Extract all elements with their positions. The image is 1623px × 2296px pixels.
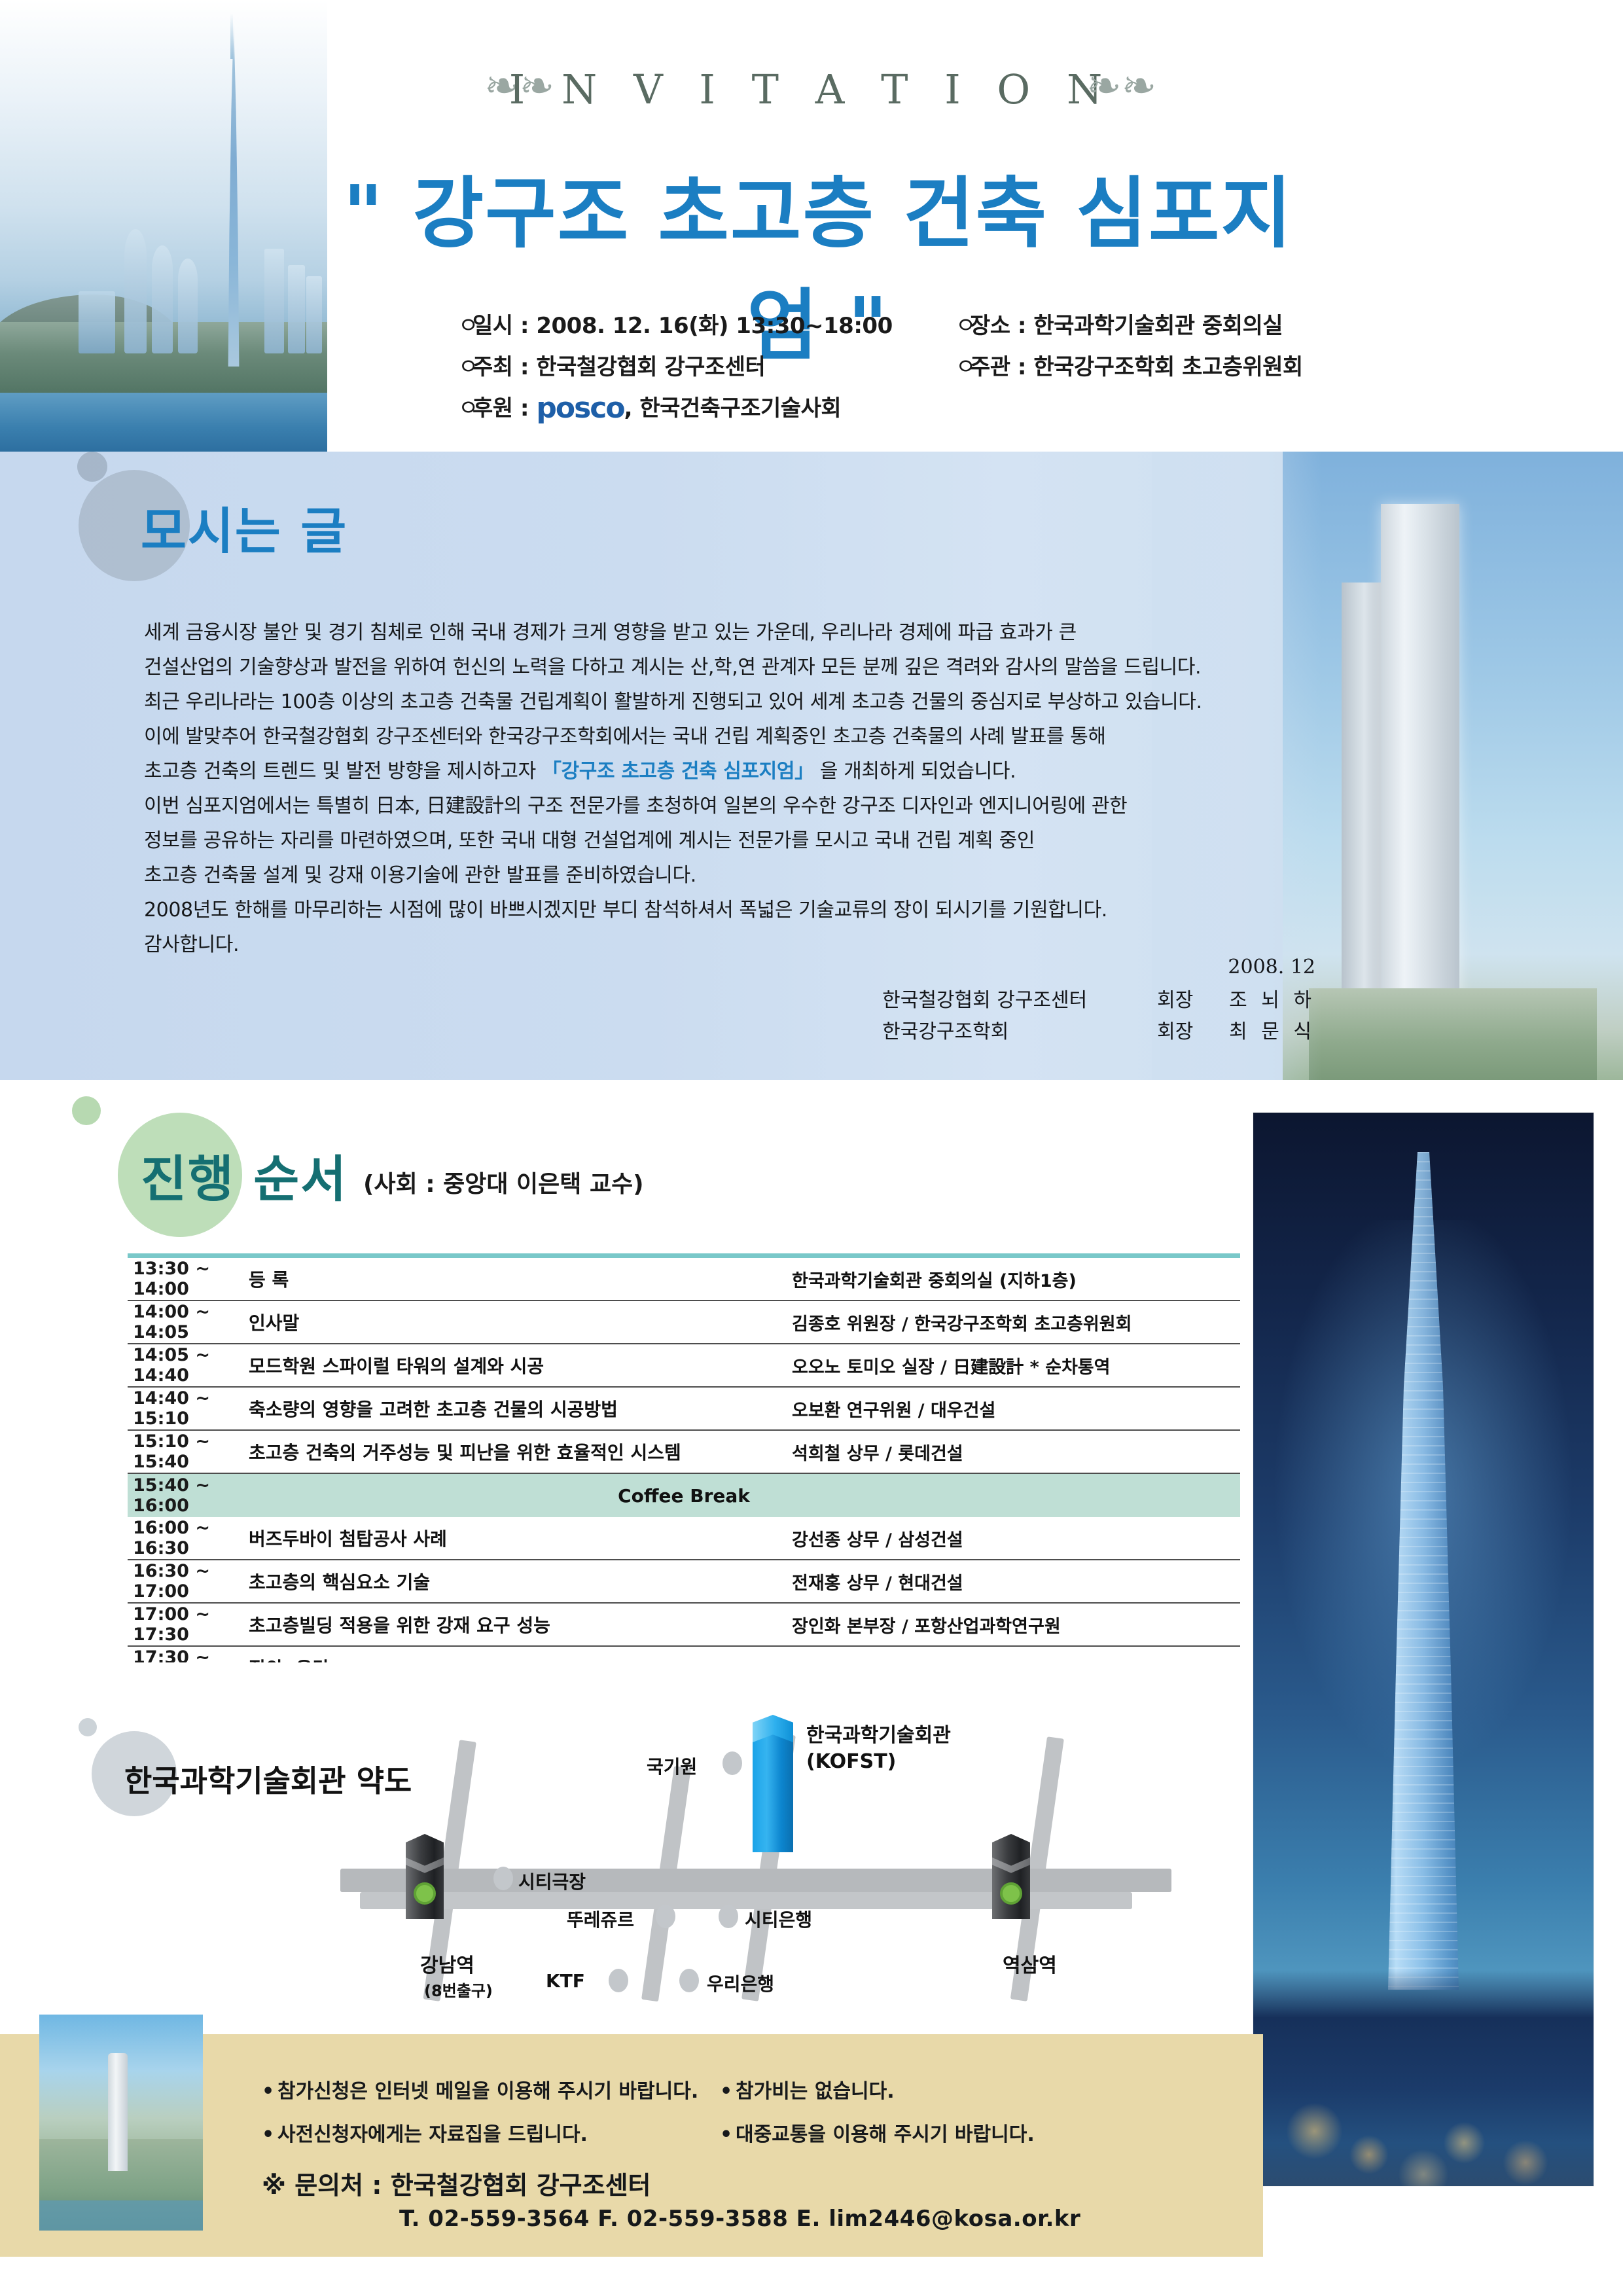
row-speaker: 전재홍 상무 / 현대건설 xyxy=(792,1569,1240,1594)
map-venue-label: 한국과학기술회관 (KOFST) xyxy=(806,1723,951,1775)
table-row: 14:05 ~ 14:40 모드학원 스파이럴 타워의 설계와 시공 오오노 토… xyxy=(128,1344,1240,1388)
night-tower-photo xyxy=(1253,1113,1594,2186)
poi-label: 뚜레쥬르 xyxy=(567,1906,634,1932)
contact-detail: T. 02-559-3564 F. 02-559-3588 E. lim2446… xyxy=(399,2206,1080,2232)
row-topic: 모드학원 스파이럴 타워의 설계와 시공 xyxy=(249,1352,792,1378)
station-name: 강남역 xyxy=(420,1949,474,1978)
poi-label: 우리은행 xyxy=(707,1970,774,1996)
row-speaker: 강선종 상무 / 삼성건설 xyxy=(792,1526,1240,1551)
greeting-line-highlight: 초고층 건축의 트렌드 및 발전 방향을 제시하고자 「강구조 초고층 건축 심… xyxy=(144,754,1257,789)
contact-label: 문의처 : 한국철강협회 강구조센터 xyxy=(294,2171,651,2200)
signature-row: 한국철강협회 강구조센터 회장 조 뇌 하 xyxy=(882,984,1315,1013)
meta-sep: : xyxy=(1010,354,1034,380)
row-speaker: 김종호 위원장 / 한국강구조학회 초고층위원회 xyxy=(792,1310,1240,1335)
bullet-icon: ㅇ xyxy=(458,390,473,422)
bullet-icon: ㅇ xyxy=(955,349,970,381)
meta-host-value: 한국철강협회 강구조센터 xyxy=(536,354,765,380)
meta-organizer-value: 한국강구조학회 초고층위원회 xyxy=(1033,354,1302,380)
row-time: 16:00 ~ 16:30 xyxy=(128,1518,249,1558)
row-time: 15:10 ~ 15:40 xyxy=(128,1431,249,1472)
note-item: •대중교통을 이용해 주시기 바랍니다. xyxy=(720,2113,1165,2157)
greeting-hl-suffix: 을 개최하게 되었습니다. xyxy=(814,760,1016,783)
contact-line: ※ 문의처 : 한국철강협회 강구조센터 xyxy=(262,2165,651,2201)
signature-name: 최 문 식 xyxy=(1229,1015,1315,1044)
table-row-break: 15:40 ~ 16:00 Coffee Break xyxy=(128,1474,1240,1517)
greeting-body: 세계 금융시장 불안 및 경기 침체로 인해 국내 경제가 크게 영향을 받고 … xyxy=(144,615,1257,962)
meta-host: ㅇ주최 : 한국철강협회 강구조센터 xyxy=(458,349,955,381)
signature-org: 한국철강협회 강구조센터 xyxy=(882,984,1157,1013)
subway-logo-icon xyxy=(1000,1882,1022,1905)
signature-name: 조 뇌 하 xyxy=(1229,984,1315,1013)
title-open-quote: " xyxy=(343,168,384,259)
row-speaker: 오오노 토미오 실장 / 日建設計 * 순차통역 xyxy=(792,1353,1240,1378)
greeting-line: 세계 금융시장 불안 및 경기 침체로 인해 국내 경제가 크게 영향을 받고 … xyxy=(144,615,1257,650)
meta-sponsor-value: , 한국건축구조기술사회 xyxy=(624,395,842,422)
row-topic: 버즈두바이 첨탑공사 사례 xyxy=(249,1525,792,1551)
invitation-eyebrow: I N V I T A T I O N xyxy=(484,65,1139,113)
row-time: 16:30 ~ 17:00 xyxy=(128,1561,249,1602)
greeting-line: 이번 심포지엄에서는 특별히 日本, 日建設計의 구조 전문가를 초청하여 일본… xyxy=(144,789,1257,823)
meta-sponsor: ㅇ후원 : posco, 한국건축구조기술사회 xyxy=(458,390,1243,425)
decor-dot xyxy=(72,1096,101,1125)
row-speaker: 한국과학기술회관 중회의실 (지하1층) xyxy=(792,1266,1240,1292)
greeting-line: 건설산업의 기술향상과 발전을 위하여 헌신의 노력을 다하고 계시는 산,학,… xyxy=(144,650,1257,685)
poi-dot-icon xyxy=(493,1867,513,1890)
poi-dot-icon xyxy=(679,1969,699,1992)
signature-date: 2008. 12 xyxy=(882,956,1315,978)
row-time: 17:00 ~ 17:30 xyxy=(128,1604,249,1645)
note-text: 참가비는 없습니다. xyxy=(736,2080,895,2103)
meta-organizer-label: 주관 xyxy=(970,354,1010,380)
meta-organizer: ㅇ주관 : 한국강구조학회 초고층위원회 xyxy=(955,349,1544,381)
note-item: •참가비는 없습니다. xyxy=(720,2070,1165,2113)
note-text: 사전신청자에게는 자료집을 드립니다. xyxy=(277,2123,588,2146)
map-venue-abbr: (KOFST) xyxy=(806,1749,951,1775)
poi-label: KTF xyxy=(546,1970,585,1992)
greeting-line: 이에 발맞추어 한국철강협회 강구조센터와 한국강구조학회에서는 국내 건립 계… xyxy=(144,719,1257,754)
meta-sep: : xyxy=(513,354,537,380)
row-topic: 축소량의 영향을 고려한 초고층 건물의 시공방법 xyxy=(249,1395,792,1422)
meta-sep: : xyxy=(513,313,537,339)
program-title: 진행 순서 xyxy=(141,1139,348,1211)
bullet-icon: ㅇ xyxy=(458,308,473,340)
meta-sponsor-label: 후원 xyxy=(473,395,513,422)
posco-logo: posco xyxy=(536,391,624,425)
meta-venue-value: 한국과학기술회관 중회의실 xyxy=(1033,313,1283,339)
greeting-hl-text: 「강구조 초고층 건축 심포지엄」 xyxy=(542,760,814,783)
poi-label: 시티은행 xyxy=(745,1906,812,1932)
station-name: 역삼역 xyxy=(1003,1949,1057,1978)
poi-label: 시티극장 xyxy=(518,1868,586,1894)
poi-label: 국기원 xyxy=(647,1753,697,1779)
meta-date-value: 2008. 12. 16(화) 13:30~18:00 xyxy=(536,313,892,339)
poi-dot-icon xyxy=(656,1905,675,1928)
meta-venue-label: 장소 xyxy=(970,313,1010,339)
bullet-icon: • xyxy=(262,2113,277,2157)
meta-sep: : xyxy=(513,395,537,422)
greeting-signature: 2008. 12 한국철강협회 강구조센터 회장 조 뇌 하 한국강구조학회 회… xyxy=(882,956,1315,1044)
signature-role: 회장 xyxy=(1157,984,1229,1013)
meta-date-label: 일시 xyxy=(473,313,513,339)
station-exit: (8번출구) xyxy=(424,1978,493,2001)
decor-dot xyxy=(77,452,107,482)
row-topic: 인사말 xyxy=(249,1309,792,1335)
note-text: 대중교통을 이용해 주시기 바랍니다. xyxy=(736,2123,1035,2146)
meta-host-label: 주최 xyxy=(473,354,513,380)
signature-role: 회장 xyxy=(1157,1015,1229,1044)
contact-mark-icon: ※ xyxy=(262,2171,286,2200)
lotte-tower-photo xyxy=(39,2015,203,2231)
greeting-line: 정보를 공유하는 자리를 마련하였으며, 또한 국내 대형 건설업계에 계시는 … xyxy=(144,823,1257,858)
subway-station-icon xyxy=(406,1834,444,1919)
subway-logo-icon xyxy=(414,1882,436,1905)
row-time: 14:05 ~ 14:40 xyxy=(128,1345,249,1386)
bullet-icon: • xyxy=(262,2070,277,2113)
row-time: 13:30 ~ 14:00 xyxy=(128,1259,249,1299)
table-row: 16:00 ~ 16:30 버즈두바이 첨탑공사 사례 강선종 상무 / 삼성건… xyxy=(128,1517,1240,1560)
note-item: •참가신청은 인터넷 메일을 이용해 주시기 바랍니다. xyxy=(262,2070,720,2113)
poi-dot-icon xyxy=(609,1969,628,1992)
table-row: 13:30 ~ 14:00 등 록 한국과학기술회관 중회의실 (지하1층) xyxy=(128,1258,1240,1301)
ornamental-flourish-right-icon: ❧❧ xyxy=(1086,65,1156,107)
row-topic: 등 록 xyxy=(249,1266,792,1292)
row-time: 14:00 ~ 14:05 xyxy=(128,1302,249,1342)
road-horizontal xyxy=(340,1869,1171,1892)
row-topic: 초고층의 핵심요소 기술 xyxy=(249,1568,792,1594)
table-row: 14:40 ~ 15:10 축소량의 영향을 고려한 초고층 건물의 시공방법 … xyxy=(128,1388,1240,1431)
row-speaker: 석희철 상무 / 롯데건설 xyxy=(792,1439,1240,1465)
greeting-hl-prefix: 초고층 건축의 트렌드 및 발전 방향을 제시하고자 xyxy=(144,760,542,783)
meta-date: ㅇ일시 : 2008. 12. 16(화) 13:30~18:00 xyxy=(458,308,955,340)
greeting-line: 최근 우리나라는 100층 이상의 초고층 건축물 건립계획이 활발하게 진행되… xyxy=(144,685,1257,719)
row-topic: 초고층빌딩 적용을 위한 강재 요구 성능 xyxy=(249,1611,792,1638)
signature-row: 한국강구조학회 회장 최 문 식 xyxy=(882,1015,1315,1044)
bullet-icon: • xyxy=(720,2070,736,2113)
tower-photo-right xyxy=(1283,452,1623,1080)
subway-station-icon xyxy=(992,1834,1030,1919)
bullet-icon: ㅇ xyxy=(458,349,473,381)
row-topic: 초고층 건축의 거주성능 및 피난을 위한 효율적인 시스템 xyxy=(249,1439,792,1465)
row-time: 14:40 ~ 15:10 xyxy=(128,1388,249,1429)
event-meta: ㅇ일시 : 2008. 12. 16(화) 13:30~18:00 ㅇ장소 : … xyxy=(458,308,1571,434)
table-row: 17:00 ~ 17:30 초고층빌딩 적용을 위한 강재 요구 성능 장인화 … xyxy=(128,1604,1240,1647)
greeting-line: 2008년도 한해를 마무리하는 시점에 많이 바쁘시겠지만 부디 참석하셔서 … xyxy=(144,893,1257,927)
bullet-icon: • xyxy=(720,2113,736,2157)
table-top-rule xyxy=(128,1253,1240,1258)
row-speaker: 장인화 본부장 / 포항산업과학연구원 xyxy=(792,1612,1240,1638)
bullet-icon: ㅇ xyxy=(955,308,970,340)
poi-dot-icon xyxy=(719,1905,738,1928)
map-canvas: 한국과학기술회관 (KOFST) 국기원 시티극장 뚜레쥬르 시티은행 KTF … xyxy=(321,1689,1198,2003)
skyline-render-image xyxy=(0,0,327,452)
meta-sep: : xyxy=(1010,313,1034,339)
greeting-line: 초고층 건축물 설계 및 강재 이용기술에 관한 발표를 준비하였습니다. xyxy=(144,858,1257,893)
table-row: 14:00 ~ 14:05 인사말 김종호 위원장 / 한국강구조학회 초고층위… xyxy=(128,1301,1240,1344)
program-moderator: (사회 : 중앙대 이은택 교수) xyxy=(363,1165,644,1199)
meta-venue: ㅇ장소 : 한국과학기술회관 중회의실 xyxy=(955,308,1544,340)
map-venue-name: 한국과학기술회관 xyxy=(806,1723,951,1749)
table-row: 16:30 ~ 17:00 초고층의 핵심요소 기술 전재홍 상무 / 현대건설 xyxy=(128,1560,1240,1604)
greeting-section: 모시는 글 세계 금융시장 불안 및 경기 침체로 인해 국내 경제가 크게 영… xyxy=(0,452,1623,1080)
top-banner: ❧❧ I N V I T A T I O N ❧❧ " 강구조 초고층 건축 심… xyxy=(0,0,1623,452)
signature-org: 한국강구조학회 xyxy=(882,1015,1157,1044)
greeting-title: 모시는 글 xyxy=(141,491,348,563)
map-section: 한국과학기술회관 약도 한국과학기술회관 (KOFST) 국기원 시티극장 뚜레… xyxy=(0,1662,1296,2029)
row-speaker: 오보환 연구위원 / 대우건설 xyxy=(792,1396,1240,1422)
decor-dot xyxy=(79,1718,97,1736)
note-item: •사전신청자에게는 자료집을 드립니다. xyxy=(262,2113,720,2157)
poi-dot-icon xyxy=(722,1751,742,1775)
note-text: 참가신청은 인터넷 메일을 이용해 주시기 바랍니다. xyxy=(277,2080,698,2103)
footer-notes: •참가신청은 인터넷 메일을 이용해 주시기 바랍니다. •참가비는 없습니다.… xyxy=(262,2070,1165,2157)
table-row: 15:10 ~ 15:40 초고층 건축의 거주성능 및 피난을 위한 효율적인… xyxy=(128,1431,1240,1474)
row-break-label: Coffee Break xyxy=(128,1485,1240,1507)
